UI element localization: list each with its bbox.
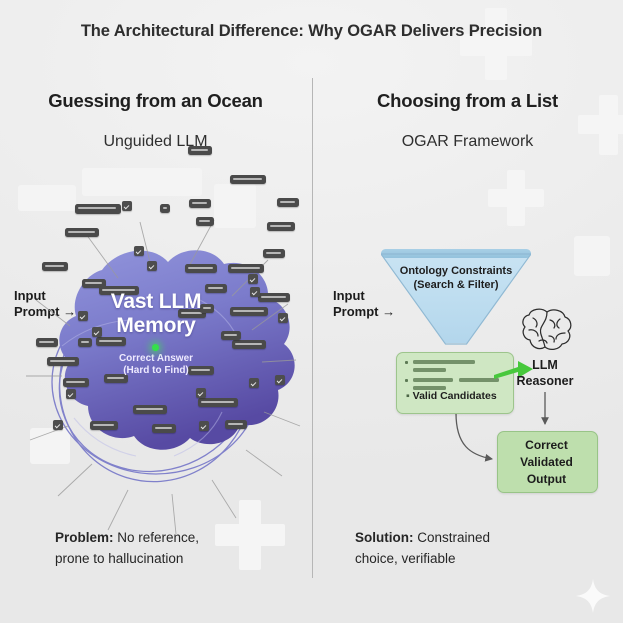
llm-reasoner-line2: Reasoner xyxy=(505,374,585,390)
output-line2: Validated xyxy=(497,454,596,471)
candidate-placeholder-line xyxy=(413,360,475,364)
candidate-placeholder-line xyxy=(413,368,446,372)
left-footer-rest: No reference, xyxy=(114,530,200,545)
right-footer-caption: Solution: Constrained choice, verifiable xyxy=(355,528,600,570)
output-line3: Output xyxy=(497,471,596,488)
candidate-placeholder-line xyxy=(413,386,446,390)
candidate-bullet-icon xyxy=(405,379,408,382)
candidate-bullet-icon xyxy=(405,361,408,364)
candidate-placeholder-line xyxy=(459,378,499,382)
left-footer-caption: Problem: No reference, prone to hallucin… xyxy=(55,528,295,570)
left-footer-line2: prone to hallucination xyxy=(55,551,183,566)
valid-candidates-text: Valid Candidates xyxy=(413,390,497,402)
right-footer-rest: Constrained xyxy=(413,530,490,545)
left-footer-bold: Problem: xyxy=(55,530,114,545)
output-line1: Correct xyxy=(497,437,596,454)
valid-candidates-bullet-icon: ▪ xyxy=(406,390,410,402)
llm-reasoner-line1: LLM xyxy=(505,358,585,374)
valid-candidates-label: ▪ Valid Candidates xyxy=(406,390,510,402)
infographic-canvas: The Architectural Difference: Why OGAR D… xyxy=(0,0,623,623)
right-footer-bold: Solution: xyxy=(355,530,413,545)
candidate-placeholder-line xyxy=(413,378,453,382)
llm-reasoner-label: LLM Reasoner xyxy=(505,358,585,389)
correct-validated-output-label: Correct Validated Output xyxy=(497,437,596,488)
right-footer-line2: choice, verifiable xyxy=(355,551,456,566)
brain-icon xyxy=(519,306,575,354)
